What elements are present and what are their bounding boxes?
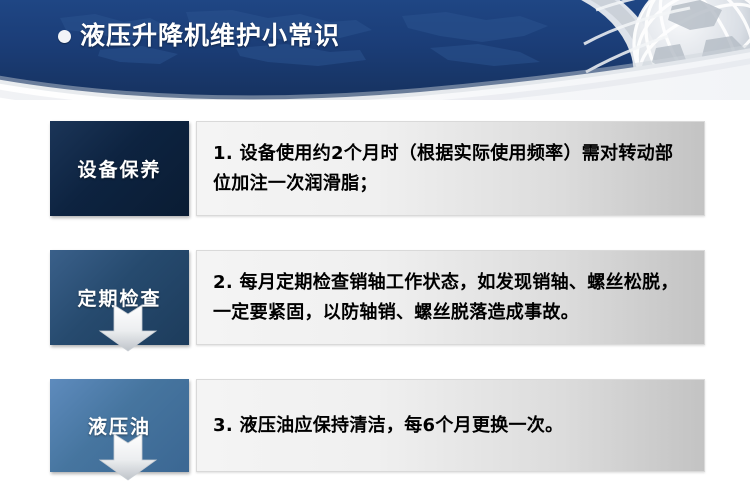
row-text-box: 3. 液压油应保持清洁，每6个月更换一次。 bbox=[196, 379, 705, 472]
page-title-text: 液压升降机维护小常识 bbox=[80, 22, 340, 50]
row-label-box-equipment-maintenance[interactable]: 设备保养 bbox=[50, 121, 189, 216]
row-text: 3. 液压油应保持清洁，每6个月更换一次。 bbox=[213, 411, 563, 440]
arrow-down-icon bbox=[96, 305, 160, 352]
row-label-text: 设备保养 bbox=[77, 155, 161, 182]
arrow-down-icon bbox=[96, 434, 160, 481]
row-text-box: 2. 每月定期检查销轴工作状态，如发现销轴、螺丝松脱，一定要紧固，以防轴销、螺丝… bbox=[196, 250, 705, 345]
content-row: 设备保养 1. 设备使用约2个月时（根据实际使用频率）需对转动部位加注一次润滑脂… bbox=[0, 121, 750, 216]
slide-canvas: 液压升降机维护小常识 设备保养 1. 设备使用约2个月时（根据实际使用频率）需对… bbox=[0, 0, 750, 495]
content-rows: 设备保养 1. 设备使用约2个月时（根据实际使用频率）需对转动部位加注一次润滑脂… bbox=[0, 100, 750, 495]
row-text-box: 1. 设备使用约2个月时（根据实际使用频率）需对转动部位加注一次润滑脂； bbox=[196, 121, 705, 216]
header-background-graphic bbox=[0, 0, 750, 100]
row-text: 1. 设备使用约2个月时（根据实际使用频率）需对转动部位加注一次润滑脂； bbox=[213, 139, 690, 197]
row-text: 2. 每月定期检查销轴工作状态，如发现销轴、螺丝松脱，一定要紧固，以防轴销、螺丝… bbox=[213, 268, 690, 326]
header-banner: 液压升降机维护小常识 bbox=[0, 0, 750, 100]
bullet-dot-icon bbox=[58, 30, 71, 43]
page-title: 液压升降机维护小常识 bbox=[58, 22, 340, 50]
